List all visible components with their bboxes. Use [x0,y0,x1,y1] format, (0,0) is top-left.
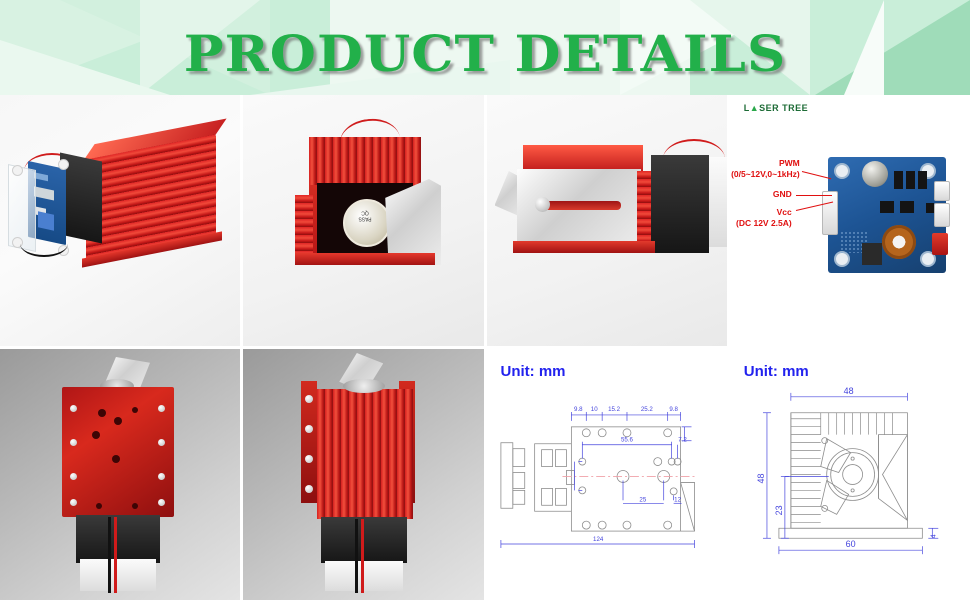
cooling-fan [651,155,709,253]
dim-inner-23: 23 [774,505,784,515]
photo-vertical-fins [243,349,483,600]
vcc-title: Vcc [777,207,792,217]
cooling-fan [76,515,160,563]
dim-width-48: 48 [843,386,853,396]
bottom-mounting-plate [62,387,174,517]
mounting-base [513,241,655,253]
driver-pcb [709,157,727,247]
dim-12: 12 [674,496,681,503]
drawing-front-view: Unit: mm [730,349,970,600]
heatsink-top [523,145,643,171]
product-details-page: PRODUCT DETAILS [0,0,970,600]
focus-slot [543,201,621,210]
adjustment-screw [535,197,550,212]
black-wire [108,517,111,593]
dim-thickness-4: 4 [930,534,937,538]
gnd-leader-line [796,195,832,196]
standoff-post [12,165,23,176]
fan-ring [343,379,385,393]
red-connector [932,233,948,255]
dim-25: 25 [639,496,646,503]
input-connector [822,191,838,235]
fan-hub-sticker: PASSQC [343,209,387,222]
heatsink-fins [317,389,413,519]
dim-9-8-right: 9.8 [669,406,678,413]
photo-front-fan: PASSQC [243,95,483,346]
mosfet [918,171,927,189]
photo-side-shield [487,95,727,346]
laser-tree-logo: L▲SER TREE [744,103,808,113]
photo-bottom-plate [0,349,240,600]
fan-hub [343,199,391,247]
page-title: PRODUCT DETAILS [0,24,970,83]
pwm-detail: (0/5~12V,0~1kHz) [731,169,800,179]
mosfet [906,171,915,189]
dim-base-60: 60 [845,539,855,549]
mounting-foot [295,253,435,265]
dim-7-2: 7.2 [678,437,687,444]
driver-pcb-board [828,157,946,273]
output-connector-2 [934,203,950,227]
dim-55-6: 55.6 [621,437,634,444]
electrolytic-capacitor [862,161,888,187]
pwm-title: PWM [779,158,800,168]
dim-15-2: 15.2 [608,406,621,413]
photo-angled-module [0,95,240,346]
gnd-title: GND [773,189,792,199]
red-wire [361,519,364,593]
dim-9-8-left: 9.8 [574,406,583,413]
side-fins [295,195,313,255]
tree-icon: ▲ [750,103,759,113]
details-grid: PASSQC L▲SER TREE [0,95,970,600]
gnd-annotation: GND [730,189,792,200]
page-header-banner: PRODUCT DETAILS [0,0,970,95]
pwm-annotation: PWM (0/5~12V,0~1kHz) [730,158,800,179]
toroid-inductor [882,225,916,259]
diode [926,203,934,213]
top-view-svg: 9.8 10 15.2 25.2 9.8 55.6 7.2 25 12 124 [487,349,727,600]
mount-wing-left [301,381,317,503]
mount-hole [834,251,850,267]
front-view-svg: 48 48 23 60 4 [730,349,970,600]
dim-height-48: 48 [756,473,766,483]
resistor-block [880,201,894,213]
driver-board-panel: L▲SER TREE [730,95,970,346]
logo-text-after: SER TREE [759,103,808,113]
heatsink-fins [637,171,651,245]
mosfet [894,171,903,189]
standoff-post [58,159,69,170]
driver-housing [325,561,403,591]
resistor-block [900,201,914,213]
regulator-ic [862,243,882,265]
driver-housing [80,559,156,591]
vcc-annotation: Vcc (DC 12V 2.5A) [730,207,792,228]
pwm-leader-line [802,171,831,179]
trim-potentiometer [38,211,54,230]
vcc-detail: (DC 12V 2.5A) [736,218,792,228]
output-connector-1 [934,181,950,201]
red-wire [114,517,117,593]
drawing-top-view: Unit: mm [487,349,727,600]
mount-hole [834,163,850,179]
cooling-fan [321,517,407,563]
dim-10: 10 [590,406,597,413]
black-wire [355,519,358,593]
dim-124: 124 [593,536,604,543]
dim-25-2: 25.2 [640,406,653,413]
heatsink-fins [309,137,421,185]
